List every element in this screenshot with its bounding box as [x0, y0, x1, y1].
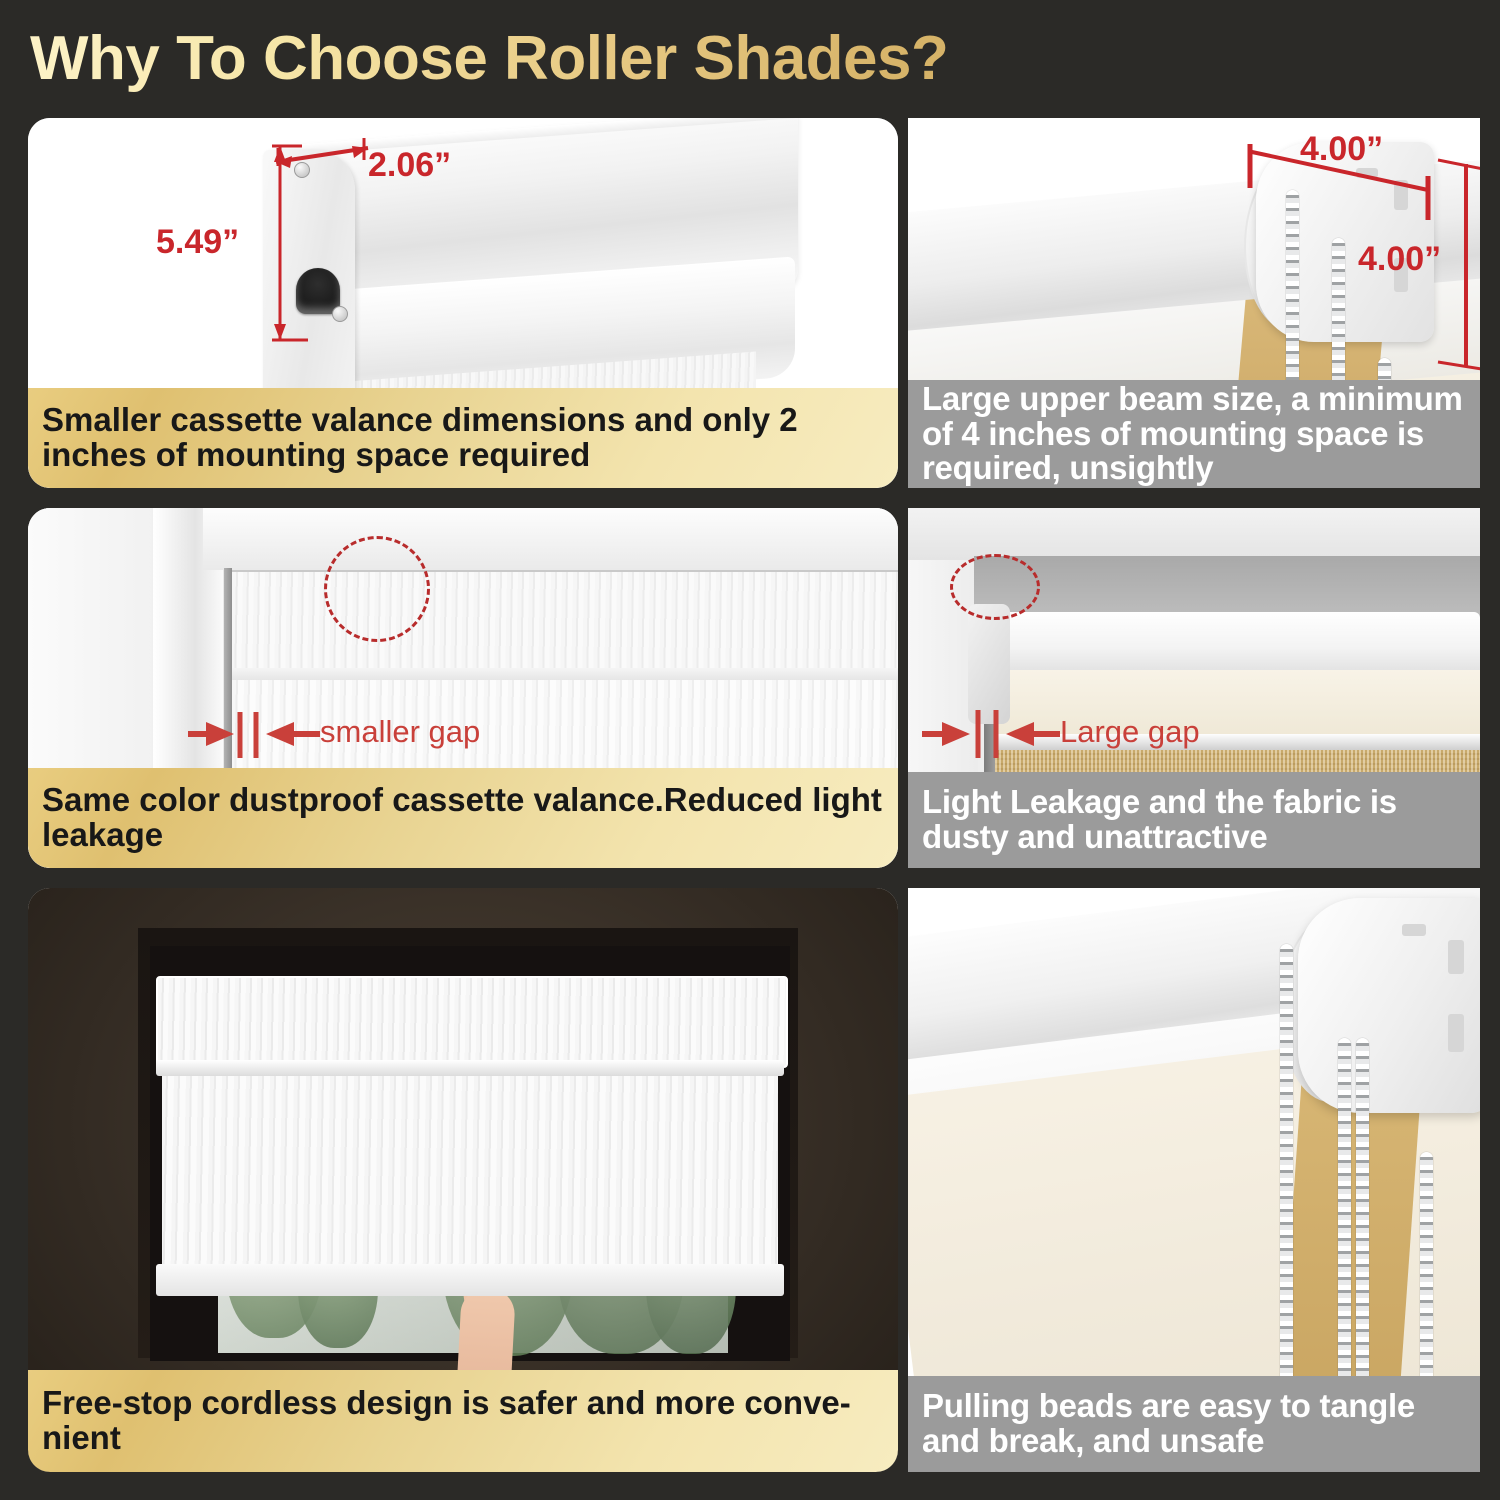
panel-pro-cassette-size: 2.06” 5.49” Smaller cassette valance dim… [28, 118, 898, 488]
panel-4-caption-bar: Light Leakage and the fabric is dusty an… [908, 772, 1480, 868]
panel-2-caption-bar: Large upper beam size, a minimum of 4 in… [908, 380, 1480, 488]
panel-5-caption-bar: Free-stop cordless design is safer and m… [28, 1370, 898, 1472]
gap-label: smaller gap [320, 714, 480, 750]
panel-1-caption-text: Smaller cassette valance dimensions and … [28, 403, 898, 473]
panel-2-caption-text: Large upper beam size, a minimum of 4 in… [908, 382, 1480, 487]
panel-con-light-leakage: Large gap Light Leakage and the fabric i… [908, 508, 1480, 868]
panel-pro-cordless-design: Free-stop cordless design is safer and m… [28, 888, 898, 1472]
panel-4-caption-text: Light Leakage and the fabric is dusty an… [908, 785, 1480, 855]
panel-1-caption-bar: Smaller cassette valance dimensions and … [28, 388, 898, 488]
panel-con-upper-beam-size: 4.00” 4.00” Large upper beam size, a min… [908, 118, 1480, 488]
panel-3-caption-text: Same color dustproof cassette valance.Re… [28, 783, 898, 853]
dimension-label-width: 4.00” [1300, 130, 1383, 169]
panel-6-caption-text: Pulling beads are easy to tangle and bre… [908, 1389, 1480, 1459]
page-title: Why To Choose Roller Shades? [30, 18, 1230, 100]
panel-con-pulling-beads: Pulling beads are easy to tangle and bre… [908, 888, 1480, 1472]
panel-6-caption-bar: Pulling beads are easy to tangle and bre… [908, 1376, 1480, 1472]
panel-pro-dustproof-valance: smaller gap Same color dustproof cassett… [28, 508, 898, 868]
dimension-label-height: 4.00” [1358, 240, 1441, 279]
gap-label: Large gap [1060, 714, 1200, 750]
panel-3-caption-bar: Same color dustproof cassette valance.Re… [28, 768, 898, 868]
dimension-label-width: 2.06” [368, 146, 451, 185]
panel-5-caption-text: Free-stop cordless design is safer and m… [28, 1386, 898, 1456]
infographic-root: Why To Choose Roller Shades? [0, 0, 1500, 1500]
dimension-label-height: 5.49” [156, 223, 239, 262]
